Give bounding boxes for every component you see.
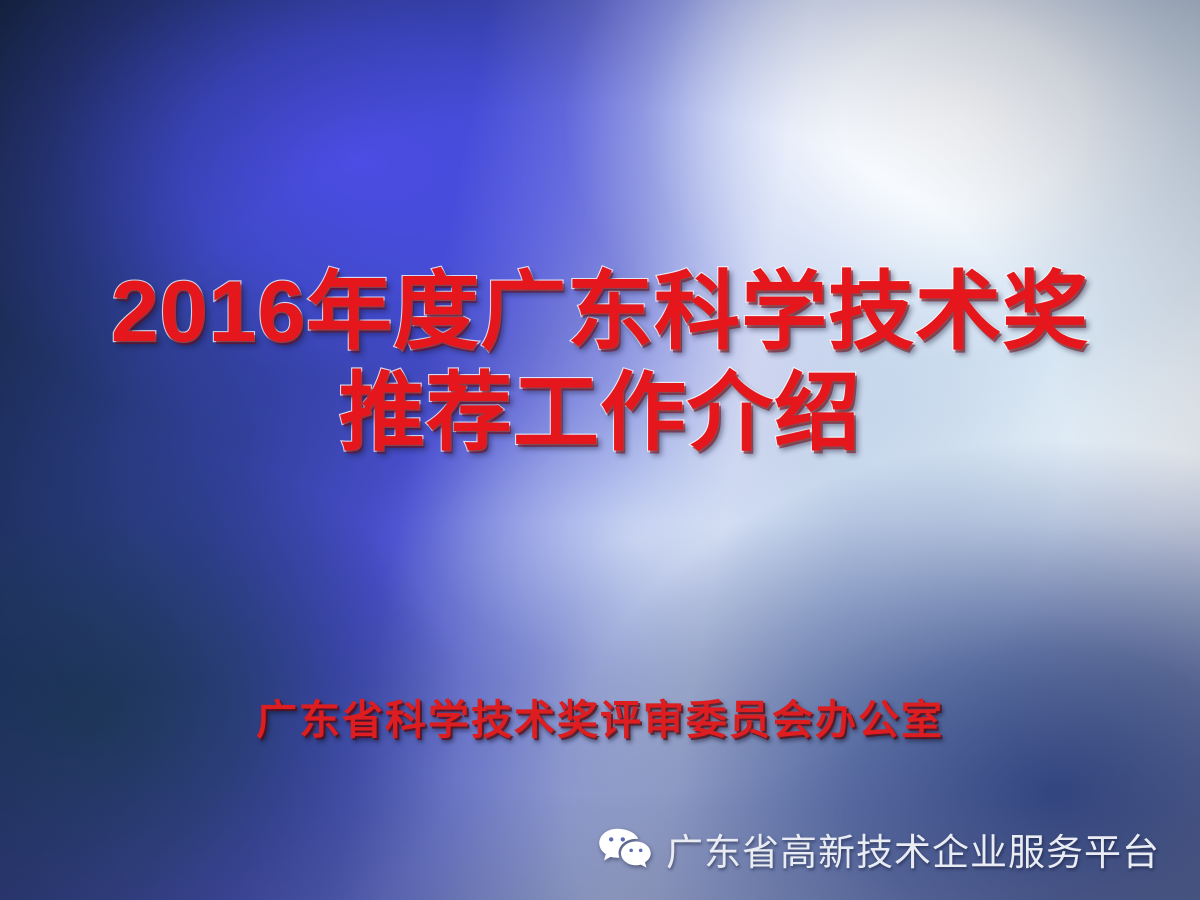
slide-subtitle: 广东省科学技术奖评审委员会办公室 [0, 686, 1200, 746]
presentation-slide: 2016年度广东科学技术奖 推荐工作介绍 广东省科学技术奖评审委员会办公室 广东… [0, 0, 1200, 900]
wechat-icon [598, 827, 652, 871]
title-line-2: 推荐工作介绍 [0, 363, 1200, 464]
organization-name: 广东省科学技术奖评审委员会办公室 [256, 686, 944, 746]
wechat-account-name: 广东省高新技术企业服务平台 [666, 822, 1160, 876]
slide-title: 2016年度广东科学技术奖 推荐工作介绍 [0, 262, 1200, 465]
title-line-1: 2016年度广东科学技术奖 [0, 262, 1200, 363]
wechat-watermark: 广东省高新技术企业服务平台 [598, 822, 1160, 876]
